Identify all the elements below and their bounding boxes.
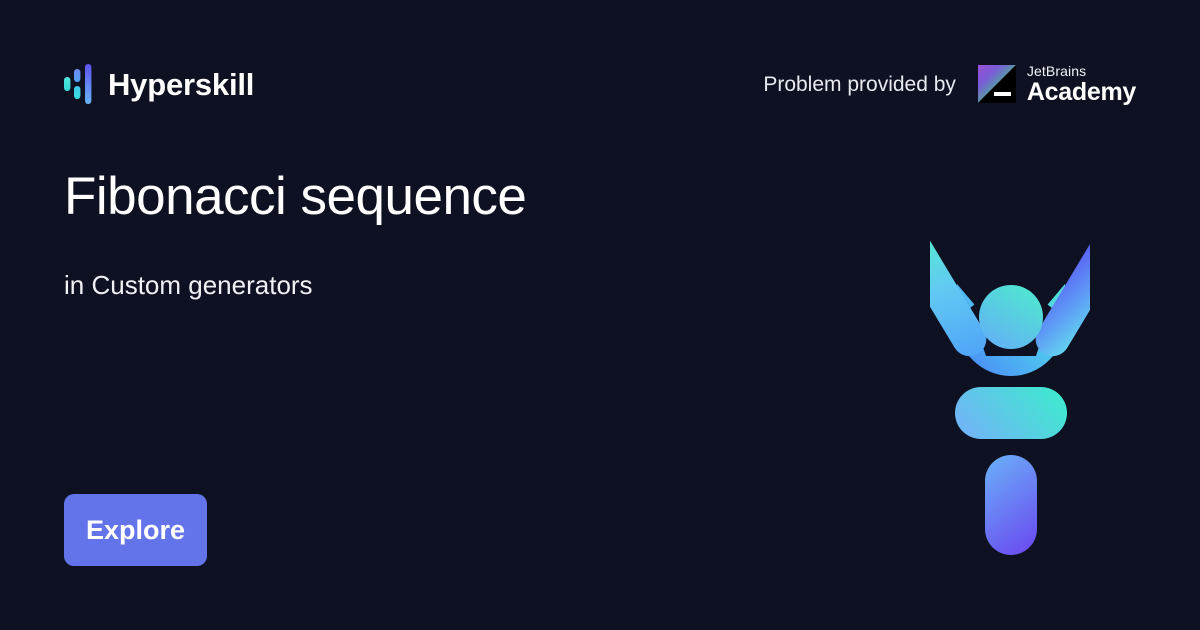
provider-block: Problem provided by JetBrains Academy [763,56,1136,112]
page-subtitle: in Custom generators [64,226,804,301]
jetbrains-wordmark-line2: Academy [1027,80,1136,105]
jetbrains-wordmark: JetBrains Academy [1027,64,1136,105]
jetbrains-academy-logo[interactable]: JetBrains Academy [978,64,1136,105]
page-title: Fibonacci sequence [64,168,804,226]
jetbrains-gradient-triangle [978,65,1016,103]
hyperskill-brand[interactable]: Hyperskill [64,56,254,112]
jetbrains-wordmark-line1: JetBrains [1027,64,1136,78]
jetbrains-underscore [994,92,1011,96]
hyperskill-bars-icon [64,64,94,104]
promo-card: Hyperskill Problem provided by JetBrains… [0,0,1200,630]
hyperskill-emblem-icon [930,180,1090,555]
explore-button[interactable]: Explore [64,494,207,566]
header: Hyperskill Problem provided by JetBrains… [64,56,1136,112]
jetbrains-square-icon [978,65,1016,103]
provider-label: Problem provided by [763,74,956,95]
brand-name: Hyperskill [108,69,254,100]
main-content: Fibonacci sequence in Custom generators [64,168,804,301]
